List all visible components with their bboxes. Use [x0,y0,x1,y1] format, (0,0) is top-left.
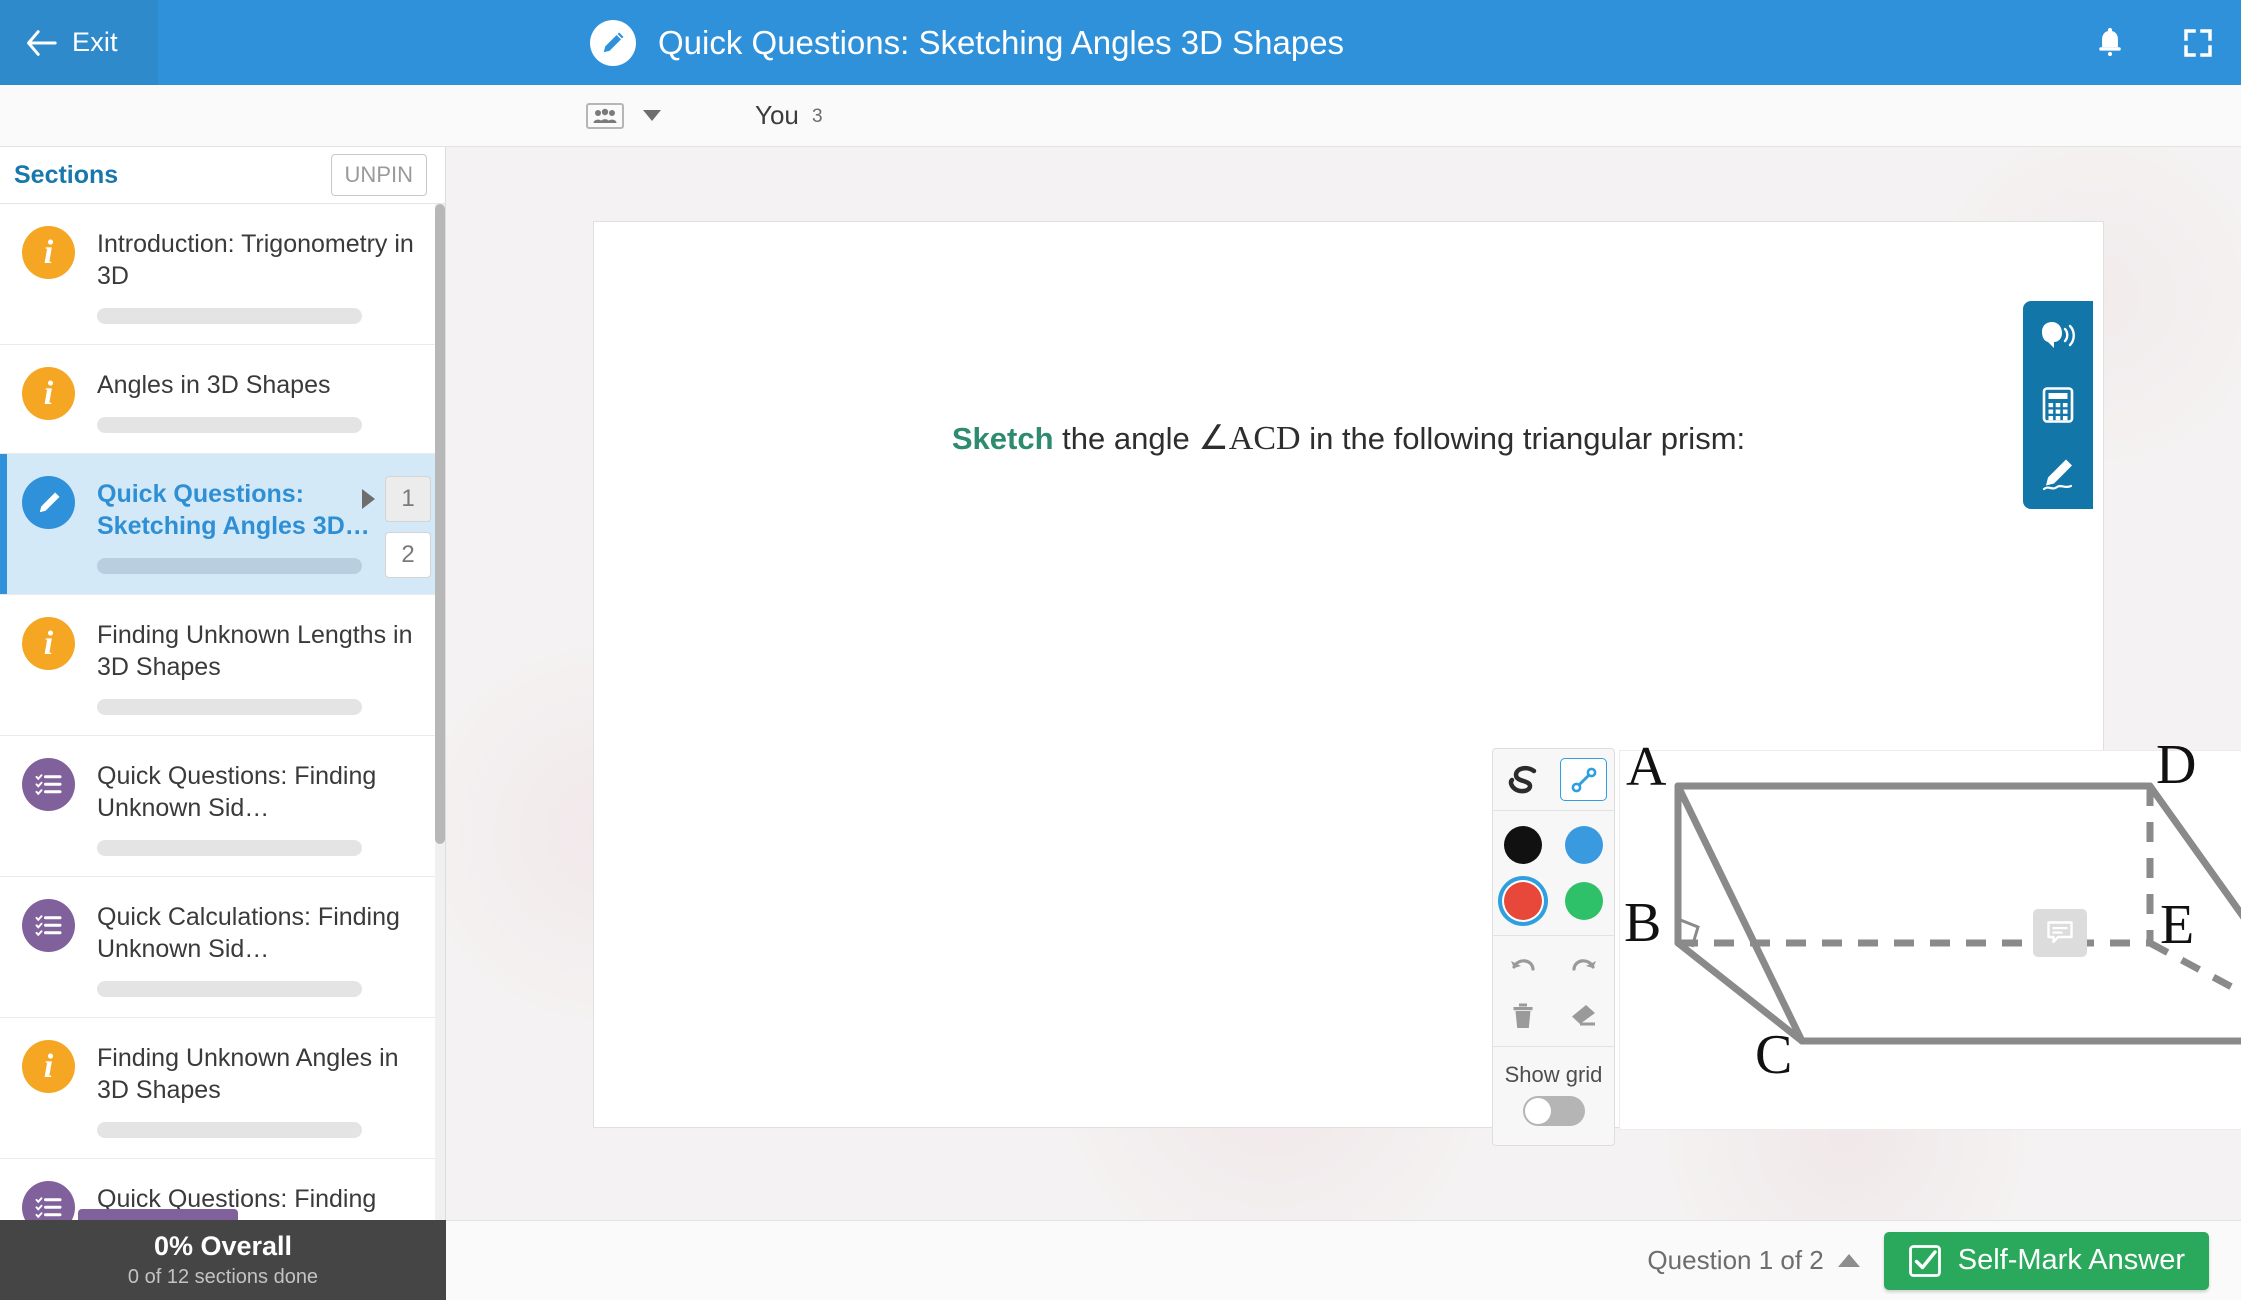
chevron-up-icon [1838,1254,1860,1267]
progress-bar [97,308,362,324]
sidebar-item-quick-questions-sides[interactable]: Quick Questions: Finding Unknown Sid… [0,736,445,877]
fullscreen-icon[interactable] [2155,0,2241,85]
you-count: 3 [812,106,823,128]
sidebar-item-label: Quick Questions: Sketching Angles 3D… [97,478,427,542]
notification-bell-icon[interactable] [2065,0,2155,85]
drawing-toolbar: Show grid [1492,748,1615,1146]
color-swatch-red-wrap [1498,876,1548,926]
sidebar-item-quick-questions-sketching[interactable]: Quick Questions: Sketching Angles 3D… 1 … [0,454,445,595]
header-title-group: Quick Questions: Sketching Angles 3D Sha… [590,0,1344,85]
exit-label: Exit [72,27,118,58]
sections-list: i Introduction: Trigonometry in 3D i Ang… [0,204,445,1220]
vertex-label-B: B [1624,891,1661,955]
sidebar-item-label: Quick Calculations: Finding Unknown Sid… [97,901,427,965]
progress-bar [97,1122,362,1138]
prism-diagram: A D B E C F [1619,750,2241,1130]
question-pager-label: Question 1 of 2 [1647,1245,1823,1276]
pencil-icon [22,476,75,529]
you-label: You [755,100,799,131]
self-mark-answer-button[interactable]: Self-Mark Answer [1884,1232,2209,1290]
sidebar-scrollbar-thumb[interactable] [435,204,445,844]
sidebar-item-introduction[interactable]: i Introduction: Trigonometry in 3D [0,204,445,345]
right-tools-panel [2023,301,2093,509]
app-header: Exit Quick Questions: Sketching Angles 3… [0,0,2241,85]
info-icon: i [22,226,75,279]
eraser-icon[interactable] [1560,994,1607,1037]
presence-subbar: You 3 [0,85,2241,147]
sidebar-item-label: Quick Questions: Finding Unknown Sid… [97,760,427,824]
vertex-label-C: C [1755,1023,1792,1087]
self-mark-answer-label: Self-Mark Answer [1958,1244,2185,1277]
sidebar-item-label: Finding Unknown Angles in 3D Shapes [97,1042,427,1106]
progress-bar [97,981,362,997]
question-text-before: the angle [1054,421,1199,456]
progress-bar [97,699,362,715]
info-icon: i [22,367,75,420]
progress-bar [97,417,362,433]
exit-button[interactable]: Exit [0,0,158,85]
sidebar-item-quick-calculations-sides[interactable]: Quick Calculations: Finding Unknown Sid… [0,877,445,1018]
sidebar-item-label: Finding Unknown Lengths in 3D Shapes [97,619,427,683]
color-swatch-blue-wrap [1559,820,1609,870]
show-grid-toggle[interactable] [1523,1096,1585,1126]
prism-svg [1620,751,2241,1129]
sidebar-item-label: Introduction: Trigonometry in 3D [97,228,427,292]
people-group-icon[interactable] [586,103,624,129]
question-number-1[interactable]: 1 [385,476,431,522]
question-card: Sketch the angle ∠ACD in the following t… [593,221,2104,1128]
calculator-icon[interactable] [2030,377,2086,433]
sidebar-item-angles-3d[interactable]: i Angles in 3D Shapes [0,345,445,454]
sections-header: Sections UNPIN [0,147,445,204]
color-swatch-black-wrap [1498,820,1548,870]
freehand-tool[interactable] [1500,758,1547,801]
sidebar-item-finding-unknown-angles[interactable]: i Finding Unknown Angles in 3D Shapes [0,1018,445,1159]
sidebar-item-finding-unknown-lengths[interactable]: i Finding Unknown Lengths in 3D Shapes [0,595,445,736]
text-to-speech-icon[interactable] [2030,308,2086,364]
header-actions [2065,0,2241,85]
annotate-pencil-icon[interactable] [2030,446,2086,502]
pencil-icon [590,20,636,66]
question-pager[interactable]: Question 1 of 2 [1647,1245,1859,1276]
overall-percent: 0% Overall [154,1231,292,1262]
main-content: Sketch the angle ∠ACD in the following t… [446,147,2241,1220]
progress-bar [97,558,362,574]
vertex-label-A: A [1626,735,1666,799]
question-number-list: 1 2 [385,476,431,578]
chevron-down-icon[interactable] [643,110,661,121]
sections-done: 0 of 12 sections done [128,1266,318,1289]
toolbar-tools-section [1493,749,1614,811]
checklist-icon [22,758,75,811]
page-title: Quick Questions: Sketching Angles 3D Sha… [658,24,1344,62]
question-math: ∠ACD [1198,420,1300,457]
app-root: Exit Quick Questions: Sketching Angles 3… [0,0,2241,1300]
expand-arrow-icon [362,489,375,509]
overall-progress: 0% Overall 0 of 12 sections done [0,1220,446,1300]
vertex-label-D: D [2156,733,2196,797]
info-icon: i [22,617,75,670]
undo-icon[interactable] [1500,945,1547,988]
question-number-2[interactable]: 2 [385,532,431,578]
sections-sidebar: Sections UNPIN i Introduction: Trigonome… [0,147,446,1220]
comment-icon[interactable] [2033,909,2087,957]
progress-bar [97,840,362,856]
vertex-label-E: E [2160,893,2194,957]
sidebar-item-label: Angles in 3D Shapes [97,369,427,401]
line-tool[interactable] [1560,758,1607,801]
color-swatch-blue[interactable] [1565,826,1603,864]
checkbox-checked-icon [1908,1244,1942,1278]
question-keyword: Sketch [952,421,1054,456]
unpin-button[interactable]: UNPIN [331,154,427,196]
trash-icon[interactable] [1500,994,1547,1037]
info-icon: i [22,1040,75,1093]
color-swatch-black[interactable] [1504,826,1542,864]
color-swatch-green[interactable] [1565,882,1603,920]
toolbar-grid-section: Show grid [1493,1047,1614,1145]
show-grid-label: Show grid [1493,1056,1614,1096]
checklist-icon [22,1181,75,1220]
toolbar-colors-section [1493,811,1614,936]
sections-title: Sections [14,161,118,190]
color-swatch-red[interactable] [1504,882,1542,920]
question-text-after: in the following triangular prism: [1301,421,1746,456]
toggle-knob [1525,1098,1551,1124]
checklist-icon [22,899,75,952]
bottom-bar: Question 1 of 2 Self-Mark Answer [446,1220,2241,1300]
redo-icon[interactable] [1560,945,1607,988]
color-swatch-green-wrap [1559,876,1609,926]
back-arrow-icon [24,26,58,60]
toolbar-actions-section [1493,936,1614,1047]
question-prompt: Sketch the angle ∠ACD in the following t… [594,418,2103,458]
